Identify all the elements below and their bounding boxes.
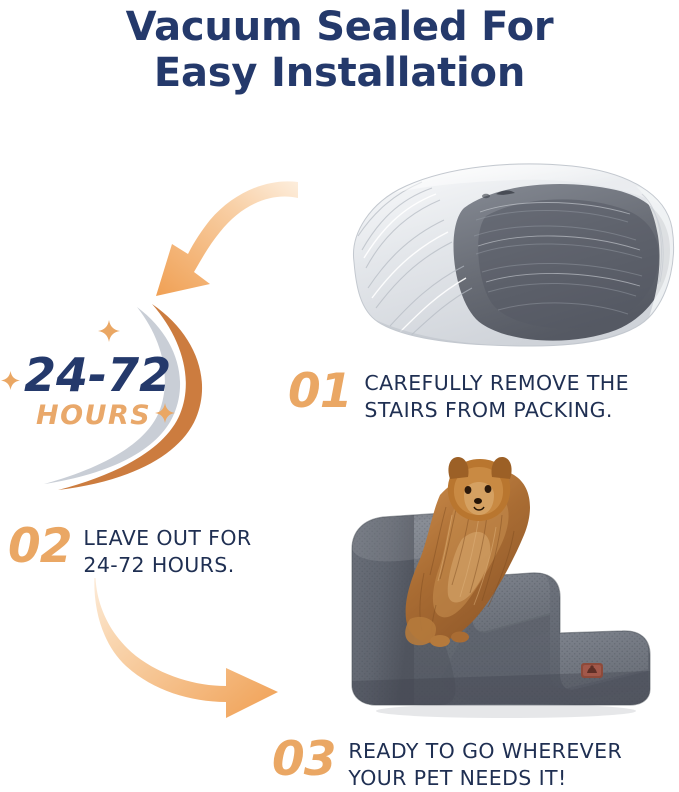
step-03-text: READY TO GO WHEREVER YOUR PET NEEDS IT!	[348, 734, 672, 792]
pet-stairs-photo	[336, 455, 679, 725]
arrow-step-02-to-step-03	[92, 578, 282, 718]
brand-logo-patch	[581, 663, 603, 678]
step-01-number: 01	[288, 366, 351, 418]
step-01: 01 CAREFULLY REMOVE THE STAIRS FROM PACK…	[288, 366, 668, 424]
duration-badge: 24-72 HOURS	[0, 300, 250, 500]
step-03-number: 03	[272, 734, 335, 786]
infographic-canvas: Vacuum Sealed For Easy Installation	[0, 0, 679, 789]
step-01-text: CAREFULLY REMOVE THE STAIRS FROM PACKING…	[364, 366, 668, 424]
arrow-package-to-step-01	[148, 168, 298, 308]
step-03: 03 READY TO GO WHEREVER YOUR PET NEEDS I…	[272, 734, 672, 792]
step-02: 02 LEAVE OUT FOR 24-72 HOURS.	[8, 521, 290, 579]
step-02-text: LEAVE OUT FOR 24-72 HOURS.	[83, 521, 290, 579]
step-02-number: 02	[8, 521, 71, 573]
badge-duration: 24-72	[24, 348, 171, 402]
badge-unit: HOURS	[36, 400, 151, 431]
page-title: Vacuum Sealed For Easy Installation	[0, 4, 679, 96]
package-photo	[336, 150, 679, 350]
